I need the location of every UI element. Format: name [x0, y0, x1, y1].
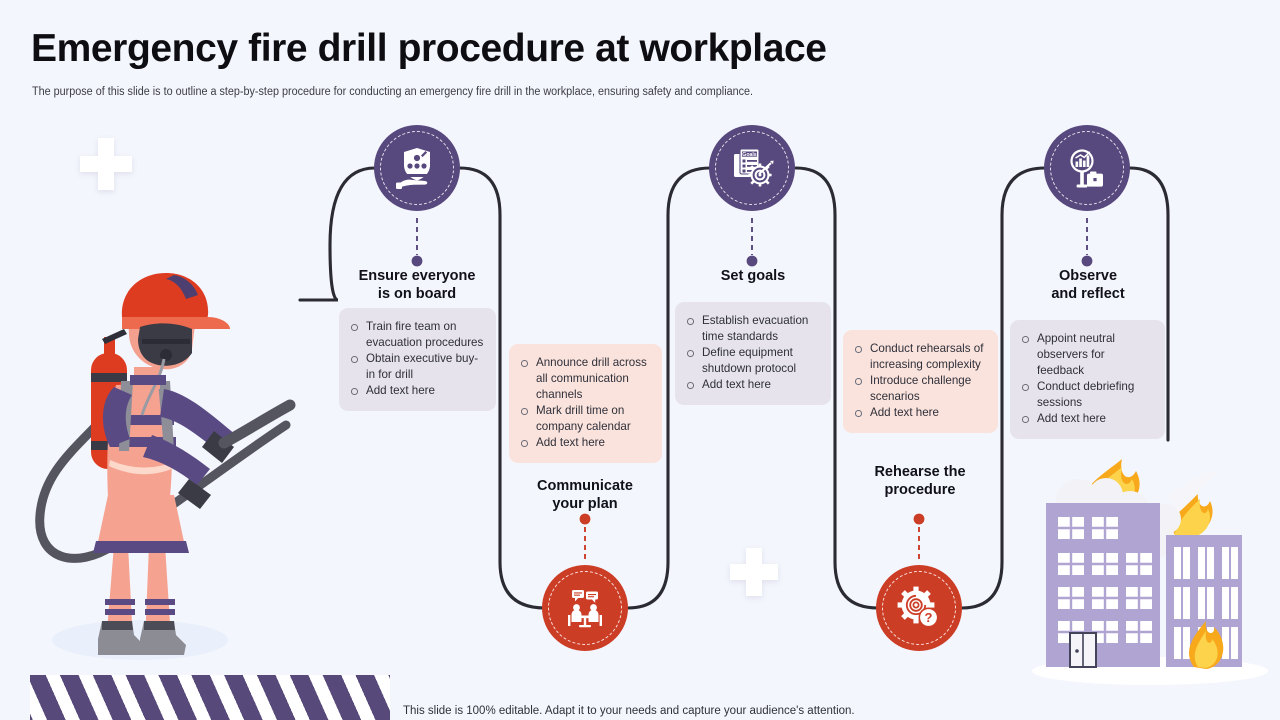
list-item: Add text here — [349, 383, 484, 399]
list-item: Obtain executive buy-in for drill — [349, 351, 484, 383]
step-heading-4: Rehearse the procedure — [840, 464, 1000, 499]
step-bullet-list-4: Conduct rehearsals of increasing complex… — [853, 341, 986, 421]
shield-people-hand-icon — [393, 144, 441, 192]
step-card-1: Train fire team on evacuation procedures… — [339, 308, 496, 411]
svg-text:?: ? — [925, 610, 933, 625]
list-item: Conduct rehearsals of increasing complex… — [853, 341, 986, 373]
burning-building-illustration — [1018, 455, 1280, 685]
step-heading-5: Observe and reflect — [1008, 268, 1168, 303]
step-heading-line-2: your plan — [505, 496, 665, 514]
diagonal-stripe-banner — [30, 675, 390, 720]
step-heading-line-1: Observe — [1008, 268, 1168, 286]
magnifier-chart-briefcase-icon — [1063, 144, 1111, 192]
step-card-2: Announce drill across all communication … — [509, 344, 662, 463]
step-heading-3: Set goals — [673, 268, 833, 286]
step-heading-2: Communicate your plan — [505, 478, 665, 513]
step-bullet-list-1: Train fire team on evacuation procedures… — [349, 319, 484, 399]
step-heading-line-1: Communicate — [505, 478, 665, 496]
list-item: Add text here — [685, 377, 819, 393]
list-item: Define equipment shutdown protocol — [685, 345, 819, 377]
step-heading-line-1: Set goals — [673, 268, 833, 286]
step-bullet-list-5: Appoint neutral observers for feedback C… — [1020, 331, 1153, 427]
step-node-2[interactable] — [542, 565, 628, 651]
step-card-4: Conduct rehearsals of increasing complex… — [843, 330, 998, 433]
step-heading-line-2: is on board — [337, 286, 497, 304]
svg-text:Goals: Goals — [742, 152, 757, 158]
step-card-5: Appoint neutral observers for feedback C… — [1010, 320, 1165, 439]
step-node-1[interactable] — [374, 125, 460, 211]
step-node-5[interactable] — [1044, 125, 1130, 211]
gear-question-icon: ? — [895, 584, 943, 632]
list-item: Add text here — [519, 435, 650, 451]
list-item: Train fire team on evacuation procedures — [349, 319, 484, 351]
list-item: Conduct debriefing sessions — [1020, 379, 1153, 411]
firefighter-with-extinguisher-illustration — [18, 255, 298, 665]
meeting-discussion-icon — [561, 584, 609, 632]
step-card-3: Establish evacuation time standards Defi… — [675, 302, 831, 405]
step-heading-1: Ensure everyone is on board — [337, 268, 497, 303]
list-item: Introduce challenge scenarios — [853, 373, 986, 405]
list-item: Establish evacuation time standards — [685, 313, 819, 345]
step-heading-line-1: Ensure everyone — [337, 268, 497, 286]
footer-note: This slide is 100% editable. Adapt it to… — [403, 705, 855, 717]
slide-root: Emergency fire drill procedure at workpl… — [0, 0, 1280, 720]
list-item: Add text here — [853, 405, 986, 421]
goals-target-icon: Goals — [728, 144, 776, 192]
step-heading-line-1: Rehearse the — [840, 464, 1000, 482]
step-heading-line-2: procedure — [840, 482, 1000, 500]
step-bullet-list-3: Establish evacuation time standards Defi… — [685, 313, 819, 393]
step-heading-line-2: and reflect — [1008, 286, 1168, 304]
list-item: Mark drill time on company calendar — [519, 403, 650, 435]
step-node-4[interactable]: ? — [876, 565, 962, 651]
list-item: Appoint neutral observers for feedback — [1020, 331, 1153, 379]
step-node-3[interactable]: Goals — [709, 125, 795, 211]
list-item: Announce drill across all communication … — [519, 355, 650, 403]
list-item: Add text here — [1020, 411, 1153, 427]
step-bullet-list-2: Announce drill across all communication … — [519, 355, 650, 451]
